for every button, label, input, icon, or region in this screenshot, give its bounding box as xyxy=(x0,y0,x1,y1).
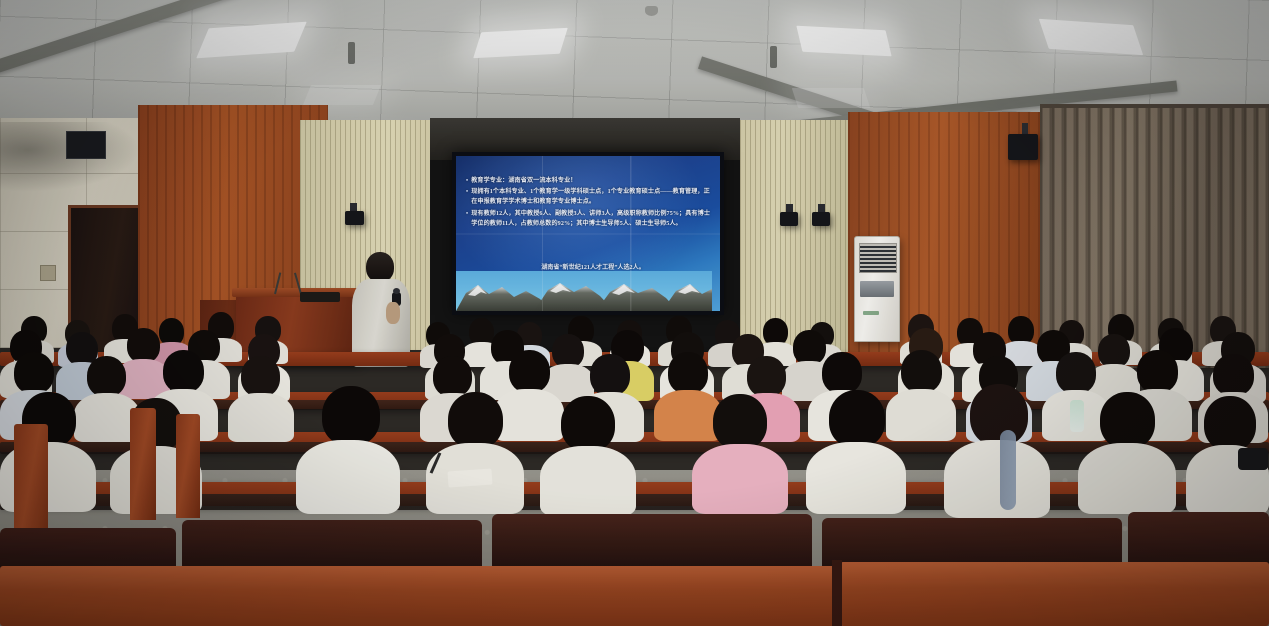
lecture-hall-photo: • 教育学专业：湖南省双一流本科专业！ • 现拥有1个本科专业、1个教育学一级学… xyxy=(0,0,1269,626)
audience-member xyxy=(944,384,1050,514)
audience-member xyxy=(692,394,788,512)
audience-member xyxy=(1078,392,1176,512)
foreground-bench-back xyxy=(492,514,812,570)
projection-screen: • 教育学专业：湖南省双一流本科专业！ • 现拥有1个本科专业、1个教育学一级学… xyxy=(452,152,724,315)
backpack-strap xyxy=(1000,430,1016,510)
audience-member xyxy=(228,356,294,440)
ac-control-panel[interactable] xyxy=(860,281,894,297)
presenter xyxy=(352,252,414,367)
foreground-bench-rail xyxy=(840,562,1269,626)
wall-speaker-icon xyxy=(1008,134,1038,160)
audience-member xyxy=(296,386,400,512)
podium-top xyxy=(232,288,362,297)
ac-grill xyxy=(859,243,897,273)
bag xyxy=(1238,448,1268,470)
wall-speaker-icon xyxy=(780,212,798,226)
bench-end-panel xyxy=(130,408,156,520)
wall-speaker-icon xyxy=(812,212,830,226)
bench-gap xyxy=(832,560,842,626)
presenter-hand xyxy=(386,302,400,324)
audience-member xyxy=(540,396,636,514)
podium-equipment xyxy=(300,292,340,302)
foreground-bench-back xyxy=(182,520,482,572)
foreground-bench-rail xyxy=(0,566,836,626)
audience-member xyxy=(806,390,906,512)
notebook xyxy=(447,468,492,487)
wall-socket xyxy=(40,265,56,281)
presenter-head xyxy=(366,252,394,282)
bench-end-panel xyxy=(176,414,200,518)
wall-speaker-icon xyxy=(66,131,106,159)
microphone-head xyxy=(393,288,400,294)
wall-speaker-icon xyxy=(345,211,364,225)
audience-member xyxy=(426,392,524,512)
ac-logo xyxy=(863,311,879,315)
air-conditioner-unit xyxy=(854,236,900,342)
